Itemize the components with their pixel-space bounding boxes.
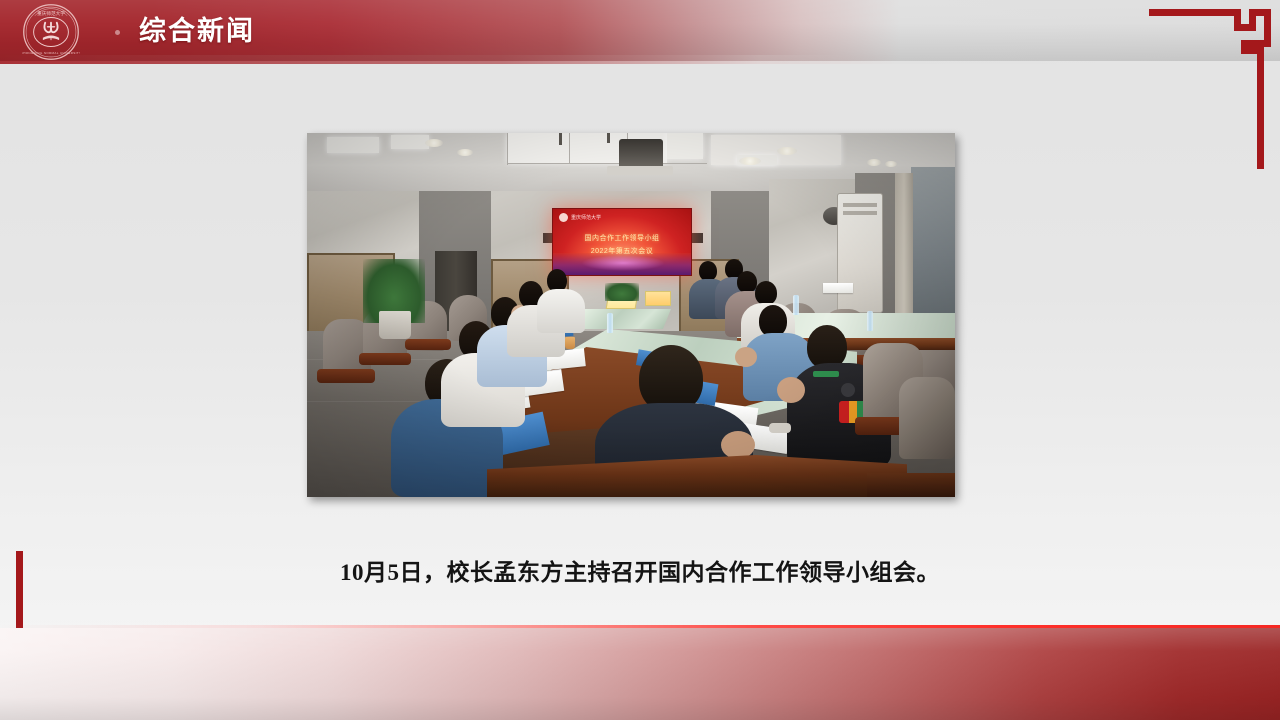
- svg-text:重庆师范大学: 重庆师范大学: [37, 10, 65, 17]
- corner-ornament-top-right-icon: [1149, 9, 1271, 169]
- chair: [899, 377, 955, 459]
- foreground-table-edge: [867, 473, 955, 497]
- ceiling-downlight: [425, 139, 443, 147]
- screen-title-line2: 2022年第五次会议: [553, 246, 691, 256]
- ceiling-downlight: [867, 159, 881, 166]
- screen-logo-text: 重庆师范大学: [571, 214, 601, 221]
- university-seal-icon: 重庆师范大学 CHONGQING NORMAL UNIVERSITY: [22, 3, 80, 61]
- water-bottle: [867, 311, 873, 331]
- water-bottle: [607, 313, 613, 333]
- water-bottle: [793, 295, 799, 315]
- projector-base: [607, 166, 673, 175]
- svg-text:CHONGQING NORMAL UNIVERSITY: CHONGQING NORMAL UNIVERSITY: [22, 51, 80, 55]
- ceiling-panel: [391, 135, 429, 149]
- ceiling-panel: [327, 137, 379, 153]
- screen-logo-icon: [559, 213, 568, 222]
- projector-mount: [607, 133, 610, 143]
- news-slide: 重庆师范大学 CHONGQING NORMAL UNIVERSITY 综合新闻: [0, 0, 1280, 720]
- chair-wood-trim: [359, 353, 411, 365]
- ceiling-panel: [667, 133, 703, 159]
- news-photo-content: 重庆师范大学 国内合作工作领导小组 2022年第五次会议: [307, 133, 955, 497]
- tea-cup: [565, 337, 575, 349]
- document-paper: [823, 283, 853, 293]
- bottom-band: [0, 628, 1280, 720]
- ceiling-projector: [619, 139, 663, 169]
- ac-vent: [843, 211, 877, 215]
- table-flower: [605, 283, 639, 301]
- screen-glow: [581, 255, 665, 271]
- screen-title-line1: 国内合作工作领导小组: [553, 233, 691, 243]
- chair-wood-trim: [317, 369, 375, 383]
- projection-screen: 重庆师范大学 国内合作工作领导小组 2022年第五次会议: [552, 208, 692, 276]
- news-photo: 重庆师范大学 国内合作工作领导小组 2022年第五次会议: [307, 133, 955, 497]
- page-title: 综合新闻: [139, 14, 255, 48]
- ceiling-downlight: [739, 157, 761, 165]
- chair-wood-trim: [405, 339, 451, 350]
- ceiling-downlight: [457, 149, 473, 156]
- ceiling-grid-line: [507, 163, 707, 164]
- ac-vent: [843, 203, 877, 207]
- name-tent-card: [645, 291, 671, 306]
- header-bullet-dot: [115, 30, 120, 35]
- header-band-lower-stripe: [0, 55, 1280, 64]
- ceiling-downlight: [777, 147, 797, 155]
- plant-pot: [379, 311, 411, 339]
- wristwatch: [769, 423, 791, 433]
- projector-mount: [559, 133, 562, 145]
- ceiling-grid-line: [507, 133, 508, 165]
- ceiling-downlight: [885, 161, 897, 167]
- ceiling-grid-line: [569, 133, 570, 163]
- photo-caption: 10月5日，校长孟东方主持召开国内合作工作领导小组会。: [0, 553, 1280, 587]
